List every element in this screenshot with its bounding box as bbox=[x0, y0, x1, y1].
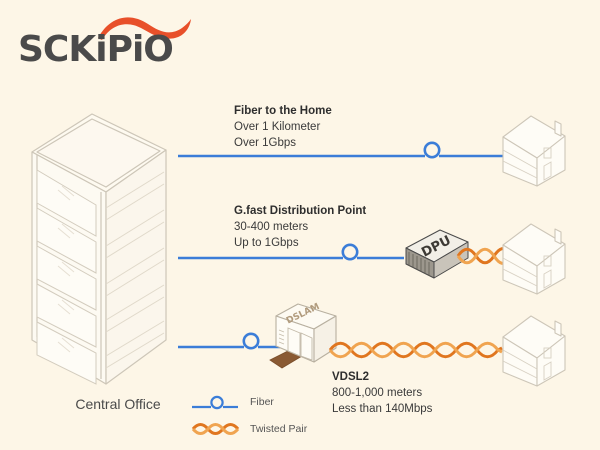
fiber-node-icon bbox=[425, 143, 439, 157]
brand-name: SCKiPiO bbox=[18, 32, 173, 68]
row-line-1: Over 1 Kilometer bbox=[234, 120, 332, 136]
row-line-2: Less than 140Mbps bbox=[332, 402, 432, 418]
row-title: VDSL2 bbox=[332, 370, 432, 386]
fiber-link-row-1 bbox=[176, 136, 506, 166]
diagram-canvas: SCKiPiO bbox=[0, 0, 600, 450]
fiber-node-icon bbox=[343, 245, 357, 259]
legend-item-fiber: Fiber bbox=[192, 392, 307, 412]
row-label-vdsl2: VDSL2 800-1,000 meters Less than 140Mbps bbox=[332, 370, 432, 418]
brand-logo: SCKiPiO bbox=[18, 14, 208, 76]
fiber-link-row-2 bbox=[176, 238, 406, 268]
house-icon bbox=[499, 110, 571, 186]
legend: Fiber Twisted Pair bbox=[192, 392, 307, 446]
fiber-node-icon bbox=[244, 334, 258, 348]
row-title: G.fast Distribution Point bbox=[234, 204, 366, 220]
legend-label: Twisted Pair bbox=[250, 423, 307, 435]
house-icon bbox=[499, 218, 571, 294]
row-line-1: 800-1,000 meters bbox=[332, 386, 432, 402]
server-rack-icon bbox=[24, 108, 174, 398]
house-icon bbox=[499, 310, 571, 386]
twisted-pair-symbol bbox=[192, 421, 240, 437]
legend-item-twisted-pair: Twisted Pair bbox=[192, 419, 307, 439]
row-title: Fiber to the Home bbox=[234, 104, 332, 120]
row-line-1: 30-400 meters bbox=[234, 220, 366, 236]
fiber-line-symbol bbox=[192, 394, 240, 410]
twisted-pair-link-row-3 bbox=[330, 340, 502, 360]
central-office-label: Central Office bbox=[38, 396, 198, 412]
legend-label: Fiber bbox=[250, 396, 274, 408]
